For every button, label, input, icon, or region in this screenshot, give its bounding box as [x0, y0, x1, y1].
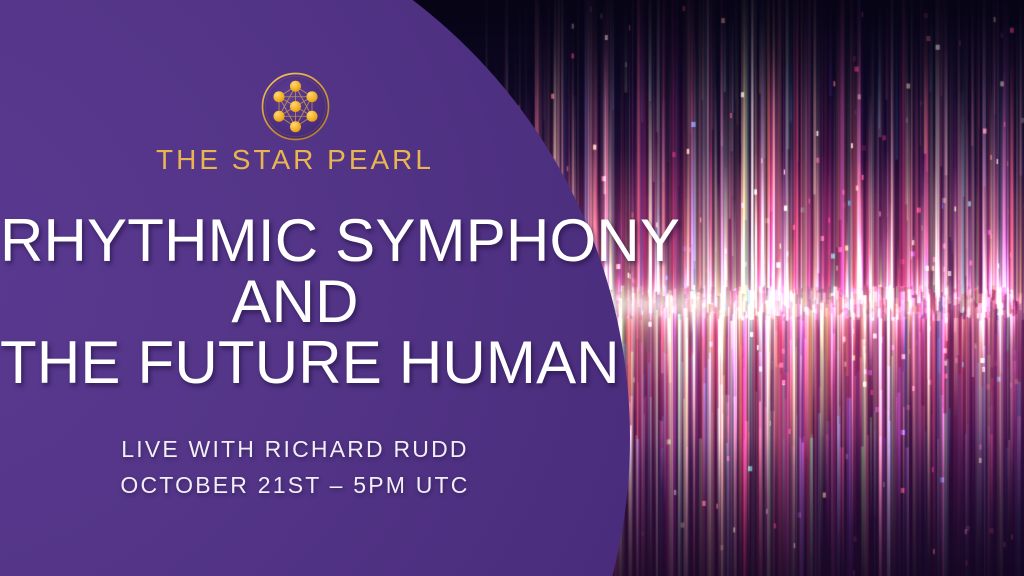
content-column: THE STAR PEARL RHYTHMIC SYMPHONY AND THE… — [0, 0, 600, 576]
headline: RHYTHMIC SYMPHONY AND THE FUTURE HUMAN — [0, 210, 590, 394]
event-datetime-line: OCTOBER 21ST – 5PM UTC — [0, 468, 590, 504]
event-host-line: LIVE WITH RICHARD RUDD — [0, 432, 590, 468]
promo-banner: THE STAR PEARL RHYTHMIC SYMPHONY AND THE… — [0, 0, 1024, 576]
event-details: LIVE WITH RICHARD RUDD OCTOBER 21ST – 5P… — [0, 432, 590, 503]
headline-line-3: THE FUTURE HUMAN — [0, 332, 590, 393]
brand-name: THE STAR PEARL — [0, 146, 590, 174]
headline-line-2: AND — [0, 271, 590, 332]
headline-line-1: RHYTHMIC SYMPHONY — [0, 210, 590, 271]
star-network-circle-icon — [258, 69, 333, 144]
